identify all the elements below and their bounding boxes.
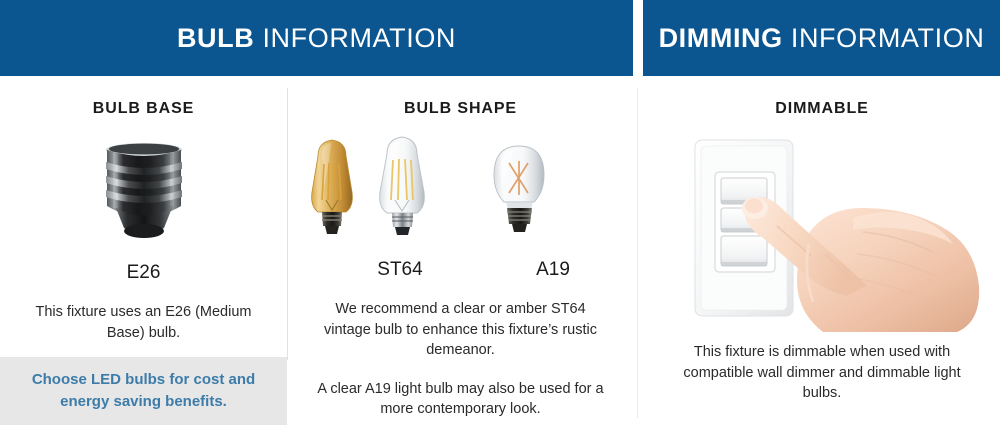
dimming-information-title: DIMMING INFORMATION — [659, 23, 985, 54]
bulb-shape-column: BULB SHAPE — [288, 76, 633, 425]
bulb-shape-labels: ST64 A19 — [288, 259, 633, 285]
header-banners: BULB INFORMATION DIMMING INFORMATION — [0, 0, 1000, 76]
e26-label: E26 — [0, 262, 287, 284]
bulb-information-title-rest: INFORMATION — [254, 23, 456, 53]
led-callout-box: Choose LED bulbs for cost and energy sav… — [0, 357, 287, 425]
dimmable-heading: DIMMABLE — [644, 100, 1000, 118]
bulb-base-heading: BULB BASE — [0, 100, 287, 118]
bulb-information-title-strong: BULB — [177, 23, 254, 53]
led-callout-text: Choose LED bulbs for cost and energy sav… — [19, 369, 269, 413]
bulb-information-title: BULB INFORMATION — [177, 23, 456, 54]
bulb-information-banner: BULB INFORMATION — [0, 0, 633, 76]
dimmer-switch-image — [644, 126, 1000, 336]
bulb-shape-paragraph-2: A clear A19 light bulb may also be used … — [316, 379, 606, 420]
e26-base-image — [0, 128, 287, 258]
clear-a19-bulb — [494, 146, 544, 232]
amber-st64-bulb — [312, 140, 353, 234]
clear-st64-bulb — [380, 137, 425, 235]
bulb-dimming-information-panel: BULB INFORMATION DIMMING INFORMATION BUL… — [0, 0, 1000, 425]
bulb-trio-icon — [288, 130, 633, 255]
dimming-information-title-rest: INFORMATION — [783, 23, 985, 53]
content-area: BULB BASE — [0, 76, 1000, 425]
bulb-base-column: BULB BASE — [0, 76, 287, 425]
dimmable-paragraph: This fixture is dimmable when used with … — [672, 342, 972, 404]
bulb-shape-heading: BULB SHAPE — [288, 100, 633, 118]
dimming-information-title-strong: DIMMING — [659, 23, 783, 53]
bulb-shape-images — [288, 130, 633, 255]
divider-bulb-dimming — [637, 88, 638, 418]
hand-pressing-dimmer-icon — [657, 126, 987, 336]
a19-label: A19 — [488, 259, 618, 281]
dimmable-column: DIMMABLE — [644, 76, 1000, 425]
bulb-base-paragraph: This fixture uses an E26 (Medium Base) b… — [19, 302, 269, 343]
bulb-shape-paragraph-1: We recommend a clear or amber ST64 vinta… — [316, 299, 606, 361]
dimming-information-banner: DIMMING INFORMATION — [643, 0, 1000, 76]
e26-screw-base-icon — [84, 128, 204, 258]
st64-label: ST64 — [335, 259, 465, 281]
